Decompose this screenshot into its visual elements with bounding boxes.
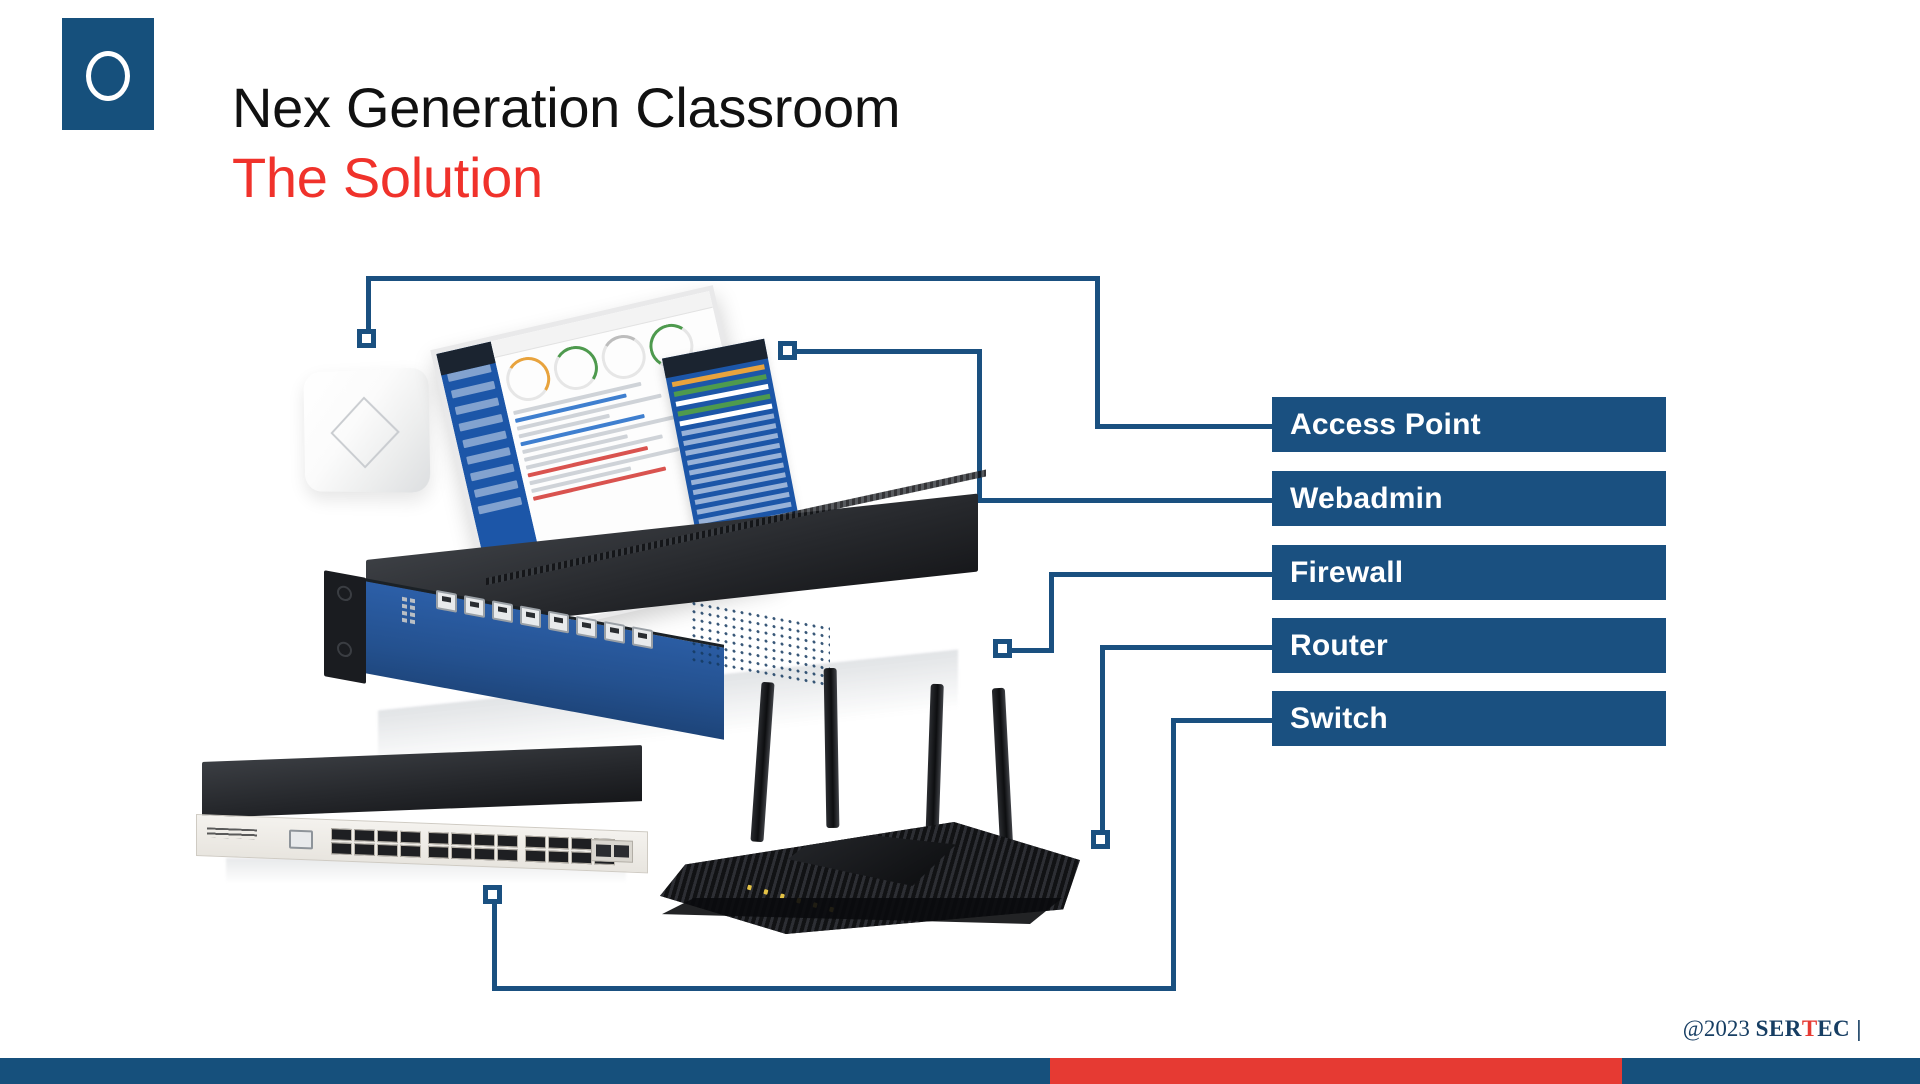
switch-chassis-top bbox=[202, 745, 642, 818]
wifi-router-device bbox=[660, 650, 1080, 960]
footer-brand-part2: EC bbox=[1817, 1016, 1850, 1041]
firewall-port bbox=[548, 611, 569, 634]
router-antenna bbox=[750, 682, 774, 843]
switch-port bbox=[451, 847, 472, 860]
connector-node-switch bbox=[483, 885, 502, 904]
label-router[interactable]: Router bbox=[1272, 618, 1666, 673]
brand-logo bbox=[62, 18, 154, 130]
switch-port bbox=[354, 843, 375, 856]
switch-port bbox=[377, 830, 398, 843]
webadmin-nav-item bbox=[455, 397, 500, 415]
switch-port bbox=[571, 851, 592, 864]
webadmin-nav-item bbox=[458, 414, 503, 432]
firewall-port bbox=[464, 595, 485, 618]
connector-node-webadmin bbox=[778, 341, 797, 360]
switch-port bbox=[571, 837, 592, 850]
label-switch-text: Switch bbox=[1290, 702, 1388, 736]
label-webadmin[interactable]: Webadmin bbox=[1272, 471, 1666, 526]
connector-access-point-seg4 bbox=[1095, 424, 1275, 429]
footer-bar-blue-left bbox=[0, 1058, 1050, 1084]
switch-port-group bbox=[428, 832, 518, 861]
switch-port bbox=[548, 851, 569, 864]
switch-port bbox=[400, 845, 421, 858]
webadmin-nav-item bbox=[451, 381, 496, 399]
switch-port bbox=[548, 837, 569, 850]
connector-webadmin-seg3 bbox=[977, 498, 1275, 503]
webadmin-nav-item bbox=[462, 430, 507, 448]
connector-webadmin-seg1 bbox=[790, 349, 982, 354]
label-access-point-text: Access Point bbox=[1290, 408, 1481, 442]
footer-copyright: @2023 SERTEC | bbox=[1683, 1016, 1862, 1042]
title-block: Nex Generation Classroom The Solution bbox=[232, 78, 900, 209]
switch-port bbox=[451, 833, 472, 846]
page-subtitle: The Solution bbox=[232, 148, 900, 208]
switch-port bbox=[474, 834, 495, 847]
label-firewall[interactable]: Firewall bbox=[1272, 545, 1666, 600]
switch-port bbox=[331, 842, 352, 855]
label-webadmin-text: Webadmin bbox=[1290, 482, 1443, 516]
webadmin-nav-item bbox=[474, 480, 519, 498]
switch-port bbox=[497, 849, 518, 862]
switch-port bbox=[428, 846, 449, 859]
switch-management-port bbox=[289, 830, 313, 850]
network-switch-device bbox=[196, 762, 648, 884]
firewall-port bbox=[604, 621, 625, 644]
firewall-port bbox=[576, 616, 597, 639]
footer-brand-accent: T bbox=[1802, 1016, 1817, 1041]
switch-port bbox=[428, 832, 449, 845]
firewall-led-array bbox=[402, 597, 415, 624]
footer-year: @2023 bbox=[1683, 1016, 1756, 1041]
connector-switch-seg2 bbox=[492, 986, 1176, 991]
webadmin-nav-item bbox=[478, 497, 523, 515]
switch-brand-mark bbox=[207, 827, 257, 839]
access-point-diamond-icon bbox=[330, 396, 399, 468]
connector-switch-seg4 bbox=[1171, 718, 1275, 723]
firewall-port bbox=[632, 626, 653, 649]
footer-brand-part1: SER bbox=[1756, 1016, 1802, 1041]
label-switch[interactable]: Switch bbox=[1272, 691, 1666, 746]
switch-port bbox=[474, 848, 495, 861]
switch-sfp-slots bbox=[591, 839, 633, 863]
switch-port bbox=[400, 831, 421, 844]
switch-port bbox=[377, 844, 398, 857]
page-title: Nex Generation Classroom bbox=[232, 78, 900, 138]
switch-port-group bbox=[331, 828, 421, 857]
slide-canvas: Nex Generation Classroom The Solution Ac… bbox=[0, 0, 1920, 1084]
connector-switch-seg1 bbox=[492, 898, 497, 990]
label-firewall-text: Firewall bbox=[1290, 556, 1403, 590]
router-antenna bbox=[824, 668, 840, 828]
router-antenna bbox=[992, 688, 1013, 848]
switch-port bbox=[331, 828, 352, 841]
webadmin-gauge bbox=[597, 331, 650, 384]
access-point-device bbox=[300, 370, 430, 492]
switch-port bbox=[525, 850, 546, 863]
connector-node-access-point bbox=[357, 329, 376, 348]
switch-port bbox=[497, 835, 518, 848]
connector-node-router bbox=[1091, 830, 1110, 849]
footer-bar-red bbox=[1050, 1058, 1622, 1084]
connector-switch-seg3 bbox=[1171, 718, 1176, 990]
webadmin-gauge bbox=[550, 342, 603, 395]
switch-port bbox=[354, 829, 375, 842]
switch-port bbox=[525, 836, 546, 849]
connector-firewall-seg3 bbox=[1049, 572, 1275, 577]
router-antenna bbox=[925, 684, 944, 844]
firewall-port bbox=[492, 600, 513, 623]
circle-logo-icon bbox=[86, 51, 130, 101]
firewall-port bbox=[436, 590, 457, 613]
firewall-port bbox=[520, 605, 541, 628]
access-point-body bbox=[303, 367, 430, 493]
webadmin-gauge bbox=[502, 353, 555, 406]
footer-bar-blue-right bbox=[1622, 1058, 1920, 1084]
connector-router-seg2 bbox=[1100, 645, 1275, 650]
label-router-text: Router bbox=[1290, 629, 1388, 663]
webadmin-nav-item bbox=[466, 447, 511, 465]
connector-access-point-seg2 bbox=[366, 276, 1100, 281]
label-access-point[interactable]: Access Point bbox=[1272, 397, 1666, 452]
connector-firewall-seg2 bbox=[1049, 572, 1054, 653]
firewall-rack-ear bbox=[324, 570, 366, 684]
connector-router-seg1 bbox=[1100, 645, 1105, 841]
webadmin-nav-item bbox=[470, 464, 515, 482]
connector-access-point-seg3 bbox=[1095, 276, 1100, 428]
switch-port-bank bbox=[331, 828, 615, 865]
footer-brand-suffix: | bbox=[1850, 1016, 1862, 1041]
